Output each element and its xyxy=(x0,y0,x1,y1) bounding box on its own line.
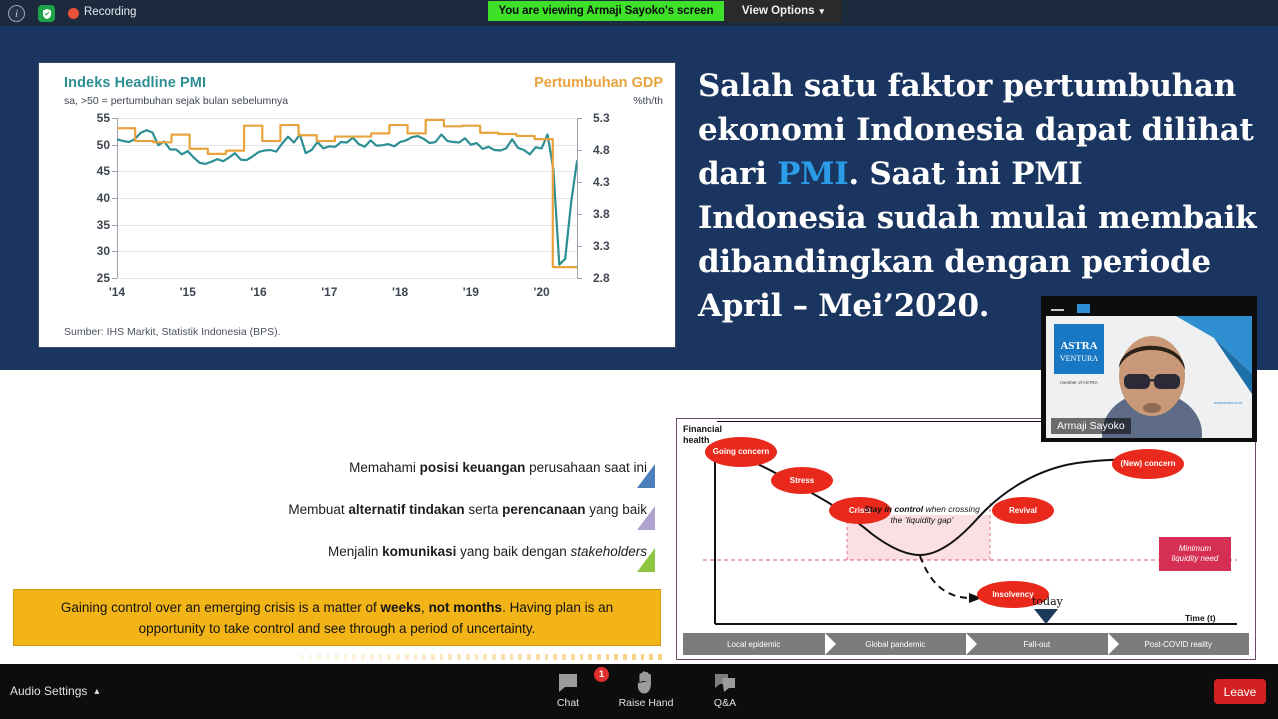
decorative-dot xyxy=(431,654,435,660)
decorative-dot xyxy=(632,654,636,660)
decorative-dot xyxy=(344,654,348,660)
chart-tickmark xyxy=(577,278,582,279)
chart-ytick-left: 40 xyxy=(97,191,110,205)
chart-ytick-right: 4.8 xyxy=(593,143,610,157)
encryption-shield-icon[interactable] xyxy=(38,5,55,22)
phase-item: Global pandemic xyxy=(825,633,967,655)
decorative-dot xyxy=(614,654,618,660)
decorative-dot xyxy=(536,654,540,660)
svg-text:ASTRA: ASTRA xyxy=(1060,340,1097,352)
decorative-dot xyxy=(501,654,505,660)
diagram-node-revival: Revival xyxy=(992,497,1054,524)
slide-headline: Salah satu faktor pertumbuhan ekonomi In… xyxy=(698,64,1260,328)
chart-xtick: '16 xyxy=(250,285,266,299)
chart-ytick-left: 30 xyxy=(97,244,110,258)
minimize-icon[interactable] xyxy=(1051,309,1064,311)
raise-hand-label: Raise Hand xyxy=(619,697,674,709)
chart-xtick: '19 xyxy=(463,285,479,299)
chart-series-pmi xyxy=(117,130,577,264)
chart-ytick-left: 55 xyxy=(97,111,110,125)
decorative-dot xyxy=(466,654,470,660)
chart-subtitle-left: sa, >50 = pertumbuhan sejak bulan sebelu… xyxy=(64,95,288,107)
financial-health-diagram: Financial health Going concern xyxy=(676,418,1256,660)
chart-title-left: Indeks Headline PMI xyxy=(64,75,206,91)
decorative-dot xyxy=(545,654,549,660)
decorative-dot xyxy=(658,654,662,660)
decorative-dot xyxy=(379,654,383,660)
decorative-dot xyxy=(588,654,592,660)
chart-xtick: '17 xyxy=(321,285,337,299)
screen-share-banner: You are viewing Armaji Sayoko's screen xyxy=(488,1,724,21)
webcam-title-bar xyxy=(1041,296,1257,316)
chart-xtick: '15 xyxy=(180,285,196,299)
diagram-today-label: today xyxy=(1032,595,1063,608)
diagram-x-axis-label: Time (t) xyxy=(1185,613,1216,623)
list-item: Membuat alternatif tindakan serta perenc… xyxy=(288,502,647,517)
chart-ytick-right: 4.3 xyxy=(593,175,610,189)
decorative-dot xyxy=(571,654,575,660)
chart-ytick-right: 3.8 xyxy=(593,207,610,221)
decorative-dot xyxy=(326,654,330,660)
callout-box: Gaining control over an emerging crisis … xyxy=(13,589,661,646)
qa-bubble-icon xyxy=(713,670,737,694)
recording-label: Recording xyxy=(84,6,136,18)
bullet-triangle-2 xyxy=(637,548,655,572)
list-item: Memahami posisi keuangan perusahaan saat… xyxy=(349,460,647,475)
bullet-triangle-1 xyxy=(637,506,655,530)
decorative-dot xyxy=(510,654,514,660)
chart-ytick-right: 2.8 xyxy=(593,271,610,285)
decorative-dot xyxy=(414,654,418,660)
chart-xtick: '20 xyxy=(534,285,550,299)
meeting-top-bar: i Recording You are viewing Armaji Sayok… xyxy=(0,0,1278,26)
chart-ytick-right: 3.3 xyxy=(593,239,610,253)
decorative-dot xyxy=(396,654,400,660)
raise-hand-button[interactable]: Raise Hand xyxy=(611,670,681,709)
phase-item: Fall-out xyxy=(966,633,1108,655)
chart-gridline xyxy=(117,278,577,279)
chart-subtitle-right: %th/th xyxy=(633,95,663,107)
decorative-dot xyxy=(649,654,653,660)
decorative-dot xyxy=(606,654,610,660)
chart-tickmark xyxy=(112,278,117,279)
decorative-dot xyxy=(597,654,601,660)
audio-settings-label: Audio Settings xyxy=(10,684,87,698)
zoom-meeting-window: i Recording You are viewing Armaji Sayok… xyxy=(0,0,1278,719)
list-item: Menjalin komunikasi yang baik dengan sta… xyxy=(328,544,647,559)
diagram-node-going-concern: Going concern xyxy=(705,437,777,467)
recording-dot-icon xyxy=(68,8,79,19)
decorative-dot xyxy=(518,654,522,660)
chat-label: Chat xyxy=(557,697,579,709)
svg-text:VENTURA: VENTURA xyxy=(1060,354,1098,363)
decorative-dot xyxy=(527,654,531,660)
view-options-label: View Options xyxy=(742,5,815,17)
leave-button[interactable]: Leave xyxy=(1214,679,1266,704)
chevron-up-icon: ▴ xyxy=(94,686,99,697)
chart-source-note: Sumber: IHS Markit, Statistik Indonesia … xyxy=(64,326,281,338)
decorative-dot xyxy=(405,654,409,660)
callout-text: Gaining control over an emerging crisis … xyxy=(30,597,644,639)
bullet-triangle-0 xyxy=(637,464,655,488)
svg-text:member of ASTRA: member of ASTRA xyxy=(1060,380,1098,385)
svg-text:astraventura.co.id: astraventura.co.id xyxy=(1214,401,1242,405)
decorative-dot xyxy=(562,654,566,660)
chat-unread-badge: 1 xyxy=(594,667,609,682)
webcam-video-feed: ASTRA VENTURA member of ASTRA astraventu… xyxy=(1046,316,1252,438)
decorative-dot xyxy=(440,654,444,660)
chart-ytick-left: 25 xyxy=(97,271,110,285)
qa-button[interactable]: Q&A xyxy=(690,670,760,709)
decorative-dot xyxy=(317,654,321,660)
diagram-phase-bar: Local epidemic Global pandemic Fall-out … xyxy=(683,633,1249,655)
chart-xtick: '18 xyxy=(392,285,408,299)
chart-axis-line xyxy=(577,118,578,278)
decorative-dot xyxy=(580,654,584,660)
chart-ytick-left: 50 xyxy=(97,138,110,152)
diagram-node-new-concern: (New) concern xyxy=(1112,449,1184,479)
decorative-dot-row xyxy=(300,654,662,660)
decorative-dot xyxy=(387,654,391,660)
phase-item: Post-COVID reality xyxy=(1108,633,1250,655)
bullet-text-1: Membuat alternatif tindakan serta perenc… xyxy=(288,502,647,517)
decorative-dot xyxy=(448,654,452,660)
decorative-dot xyxy=(623,654,627,660)
bullet-text-2: Menjalin komunikasi yang baik dengan sta… xyxy=(328,544,647,559)
view-options-button[interactable]: View Options ▾ xyxy=(724,0,842,22)
chat-button[interactable]: 1 Chat xyxy=(533,670,603,709)
decorative-dot xyxy=(300,654,304,660)
decorative-dot xyxy=(309,654,313,660)
decorative-dot xyxy=(335,654,339,660)
bullet-text-0: Memahami posisi keuangan perusahaan saat… xyxy=(349,460,647,475)
decorative-dot xyxy=(475,654,479,660)
decorative-dot xyxy=(361,654,365,660)
diagram-node-stress: Stress xyxy=(771,467,833,494)
chart-title-right: Pertumbuhan GDP xyxy=(534,75,663,91)
raise-hand-icon xyxy=(636,670,656,694)
decorative-dot xyxy=(457,654,461,660)
decorative-dot xyxy=(422,654,426,660)
decorative-dot xyxy=(483,654,487,660)
decorative-dot xyxy=(641,654,645,660)
phase-item: Local epidemic xyxy=(683,633,825,655)
diagram-minimum-liquidity-label: Minimum liquidity need xyxy=(1159,537,1231,571)
maximize-icon[interactable] xyxy=(1077,304,1090,313)
chart-ytick-left: 45 xyxy=(97,164,110,178)
chart-plot-area: 253035404550552.83.33.84.34.85.3'14'15'1… xyxy=(117,118,577,278)
info-icon[interactable]: i xyxy=(8,5,25,22)
diagram-liquidity-gap-note: Stay in control when crossing the ‘liqui… xyxy=(862,504,982,526)
chart-ytick-right: 5.3 xyxy=(593,111,610,125)
participant-video-thumbnail[interactable]: ASTRA VENTURA member of ASTRA astraventu… xyxy=(1041,296,1257,442)
headline-accent-pmi: PMI xyxy=(777,156,848,192)
chevron-down-icon: ▾ xyxy=(820,6,825,17)
chat-bubble-icon: 1 xyxy=(556,670,580,694)
chart-series-layer xyxy=(117,118,577,278)
participant-name-label: Armaji Sayoko xyxy=(1051,418,1131,434)
pmi-gdp-chart: Indeks Headline PMI Pertumbuhan GDP sa, … xyxy=(38,62,676,348)
decorative-dot xyxy=(352,654,356,660)
chart-xtick: '14 xyxy=(109,285,125,299)
meeting-controls-toolbar: Audio Settings ▴ 1 Chat Raise Hand Q&A L… xyxy=(0,664,1278,719)
qa-label: Q&A xyxy=(714,697,736,709)
chart-ytick-left: 35 xyxy=(97,218,110,232)
decorative-dot xyxy=(553,654,557,660)
audio-settings-button[interactable]: Audio Settings ▴ xyxy=(10,684,99,698)
decorative-dot xyxy=(492,654,496,660)
decorative-dot xyxy=(370,654,374,660)
